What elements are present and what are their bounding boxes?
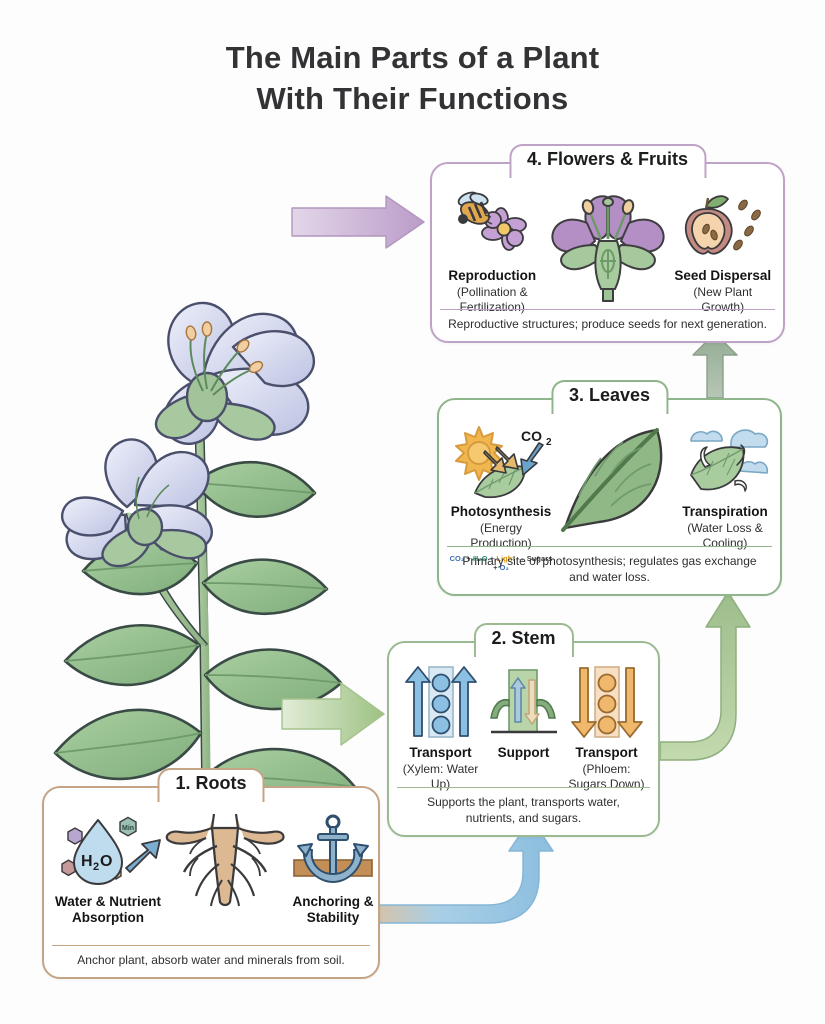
card-stem[interactable]: 2. Stem Transport [387,641,660,837]
feature-support-label: Support [482,745,564,761]
leaf-clouds-vapor-icon [677,422,773,500]
plant-to-flowers-arrow [292,196,424,248]
feature-anchoring-stability: Anchoring & Stability [288,812,378,926]
card-flowers-footer: Reproductive structures; produce seeds f… [440,309,775,341]
root-system-icon [162,812,288,908]
large-leaf-icon [553,422,677,534]
card-flowers-title: 4. Flowers & Fruits [509,144,706,178]
stem-support-icon [482,663,564,741]
card-leaves-title: 3. Leaves [551,380,668,414]
feature-transpiration-label: Transpiration [677,504,773,520]
feature-seed-dispersal: Seed Dispersal (New Plant Growth) [673,186,774,314]
feature-water-nutrient-absorption: Min H 2 O Water & Nutrient Absorption [54,812,162,926]
infographic-canvas: The Main Parts of a Plant With Their Fun… [0,0,825,1024]
svg-text:2: 2 [546,437,552,448]
feature-phloem-transport: Transport (Phloem: Sugars Down) [565,663,647,791]
plant-to-stem-arrow [282,683,384,745]
feature-reproduction-label: Reproduction [442,268,543,284]
card-roots[interactable]: 1. Roots Min [42,786,380,979]
card-stem-footer: Supports the plant, transports water, nu… [397,787,650,835]
feature-water-label: Water & Nutrient [54,894,162,910]
anchor-icon [288,812,378,890]
feature-xylem-label: Transport [399,745,481,761]
stem-to-leaves-arrow [660,592,750,760]
svg-text:H: H [81,853,93,870]
card-roots-title: 1. Roots [157,768,264,802]
feature-xylem-transport: Transport (Xylem: Water Up) [399,663,481,791]
feature-support: Support [482,663,564,762]
feature-seed-dispersal-label: Seed Dispersal [673,268,774,284]
feature-water-label2: Absorption [54,910,162,926]
svg-text:O: O [100,853,112,870]
feature-reproduction: Reproduction (Pollination & Fertilizatio… [442,186,543,314]
feature-photosynthesis-label: Photosynthesis [449,504,553,520]
flower-cross-section-icon [543,186,673,298]
feature-anchoring-label: Anchoring & [288,894,378,910]
card-leaves[interactable]: 3. Leaves [437,398,782,596]
feature-phloem-label: Transport [565,745,647,761]
card-leaves-footer: Primary site of photosynthesis; regulate… [447,546,772,594]
bee-flower-pollination-icon [442,186,543,264]
water-droplet-nutrients-icon: Min H 2 O [54,812,162,890]
feature-transpiration: Transpiration (Water Loss & Cooling) [677,422,773,550]
svg-text:CO: CO [521,428,542,444]
svg-text:Min: Min [122,825,134,832]
feature-anchoring-label2: Stability [288,910,378,926]
phloem-downward-arrows-icon [565,663,647,741]
card-flowers-fruits[interactable]: 4. Flowers & Fruits [430,162,785,343]
card-roots-footer: Anchor plant, absorb water and minerals … [52,945,370,977]
card-stem-title: 2. Stem [473,623,573,657]
xylem-upward-arrows-icon [399,663,481,741]
sun-leaf-co2-icon: CO 2 [449,422,553,500]
apple-seeds-icon [673,186,774,264]
svg-text:2: 2 [93,861,99,873]
